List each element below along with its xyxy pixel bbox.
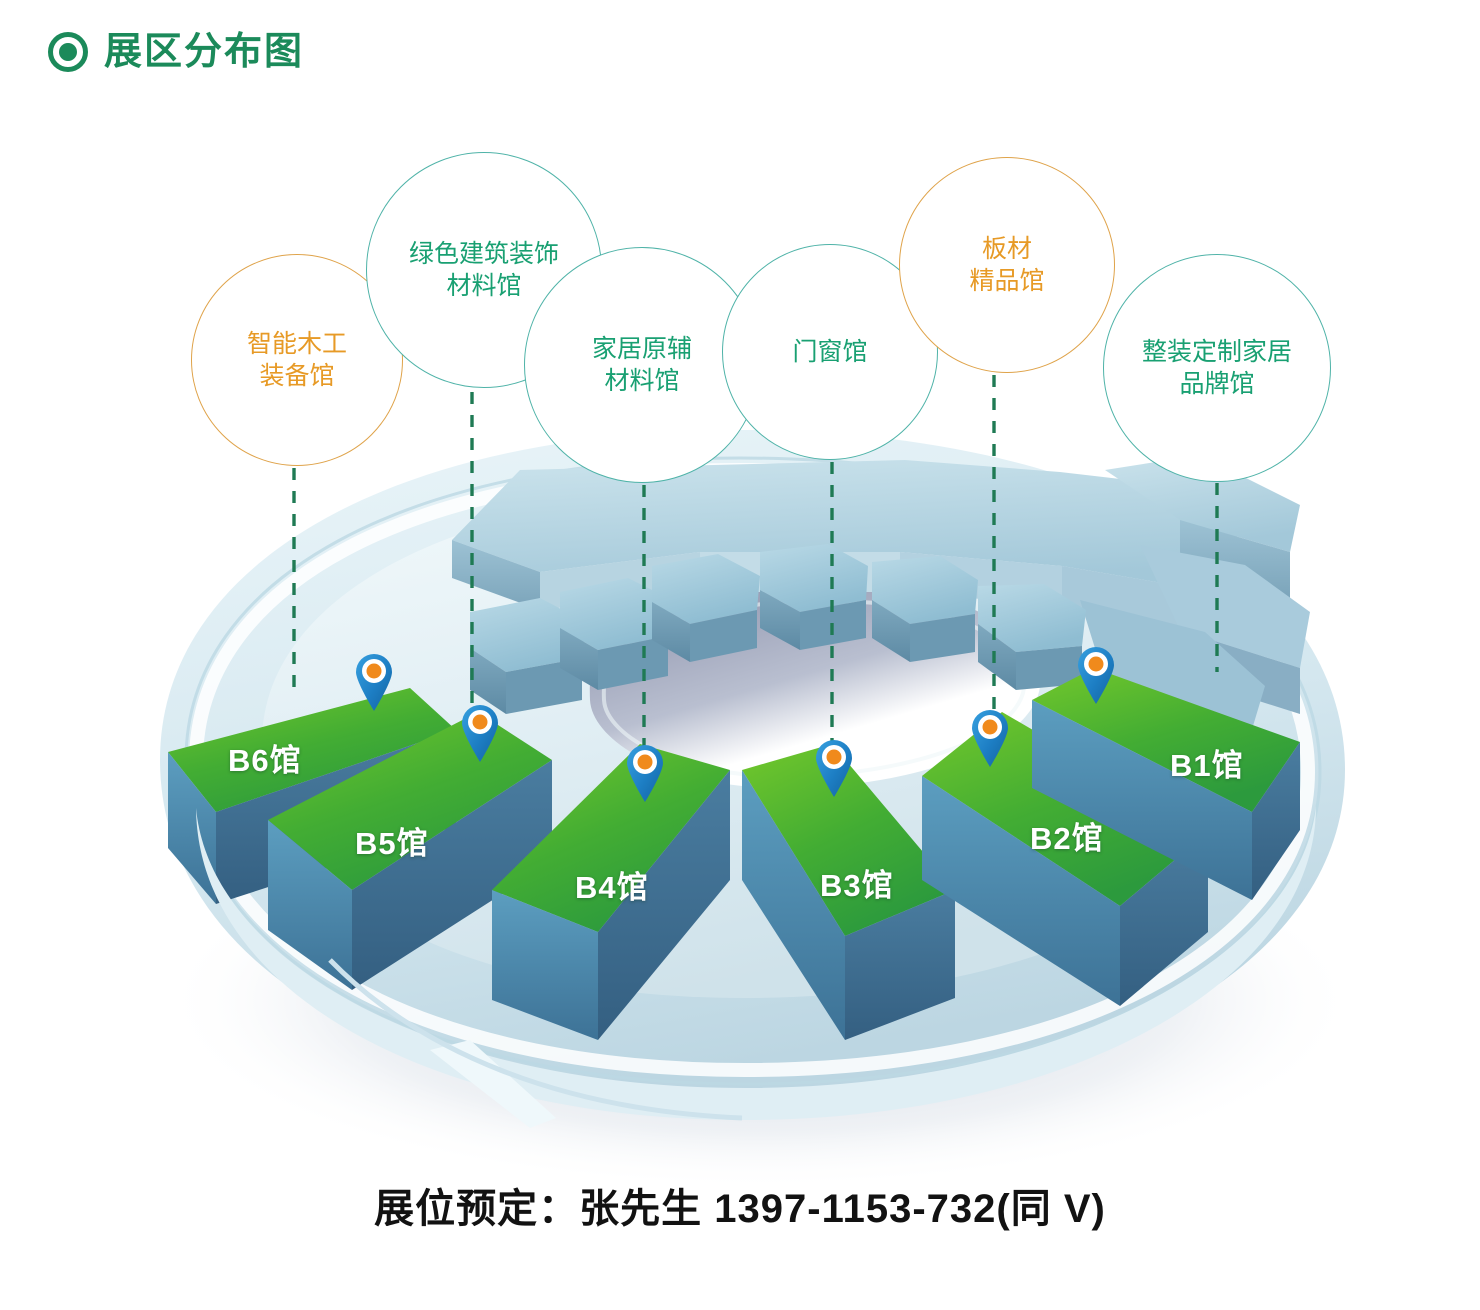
callout-label: 门窗馆 <box>792 336 867 368</box>
hall-label-B1[interactable]: B1馆 <box>1170 740 1244 785</box>
map-pin-icon-B1[interactable] <box>1074 645 1118 705</box>
hall-label-B2[interactable]: B2馆 <box>1030 813 1104 858</box>
callout-label: 板材 精品馆 <box>969 233 1044 297</box>
hall-label-B5[interactable]: B5馆 <box>355 818 429 863</box>
callout-label: 智能木工 装备馆 <box>247 328 347 392</box>
hall-label-B6[interactable]: B6馆 <box>228 735 302 780</box>
callout-label: 整装定制家居 品牌馆 <box>1142 336 1292 400</box>
map-pin-icon-B3[interactable] <box>812 738 856 798</box>
venue-map-illustration <box>0 0 1480 1310</box>
booth-booking-contact: 展位预定：张先生 1397-1153-732(同 V) <box>0 1176 1480 1234</box>
hall-label-B4[interactable]: B4馆 <box>575 862 649 907</box>
callout-zhengzhuang-dingzhi[interactable]: 整装定制家居 品牌馆 <box>1103 254 1331 482</box>
map-pin-icon-B2[interactable] <box>968 708 1012 768</box>
map-pin-icon-B4[interactable] <box>623 743 667 803</box>
hall-label-B3[interactable]: B3馆 <box>820 860 894 905</box>
exhibition-zone-map-page: 展区分布图 <box>0 0 1480 1310</box>
map-pin-icon-B5[interactable] <box>458 703 502 763</box>
map-pin-icon-B6[interactable] <box>352 652 396 712</box>
callout-label: 绿色建筑装饰 材料馆 <box>409 238 559 302</box>
callout-bancai-jingpin[interactable]: 板材 精品馆 <box>899 157 1115 373</box>
venue-map-svg <box>0 0 1480 1310</box>
callout-label: 家居原辅 材料馆 <box>592 333 692 397</box>
